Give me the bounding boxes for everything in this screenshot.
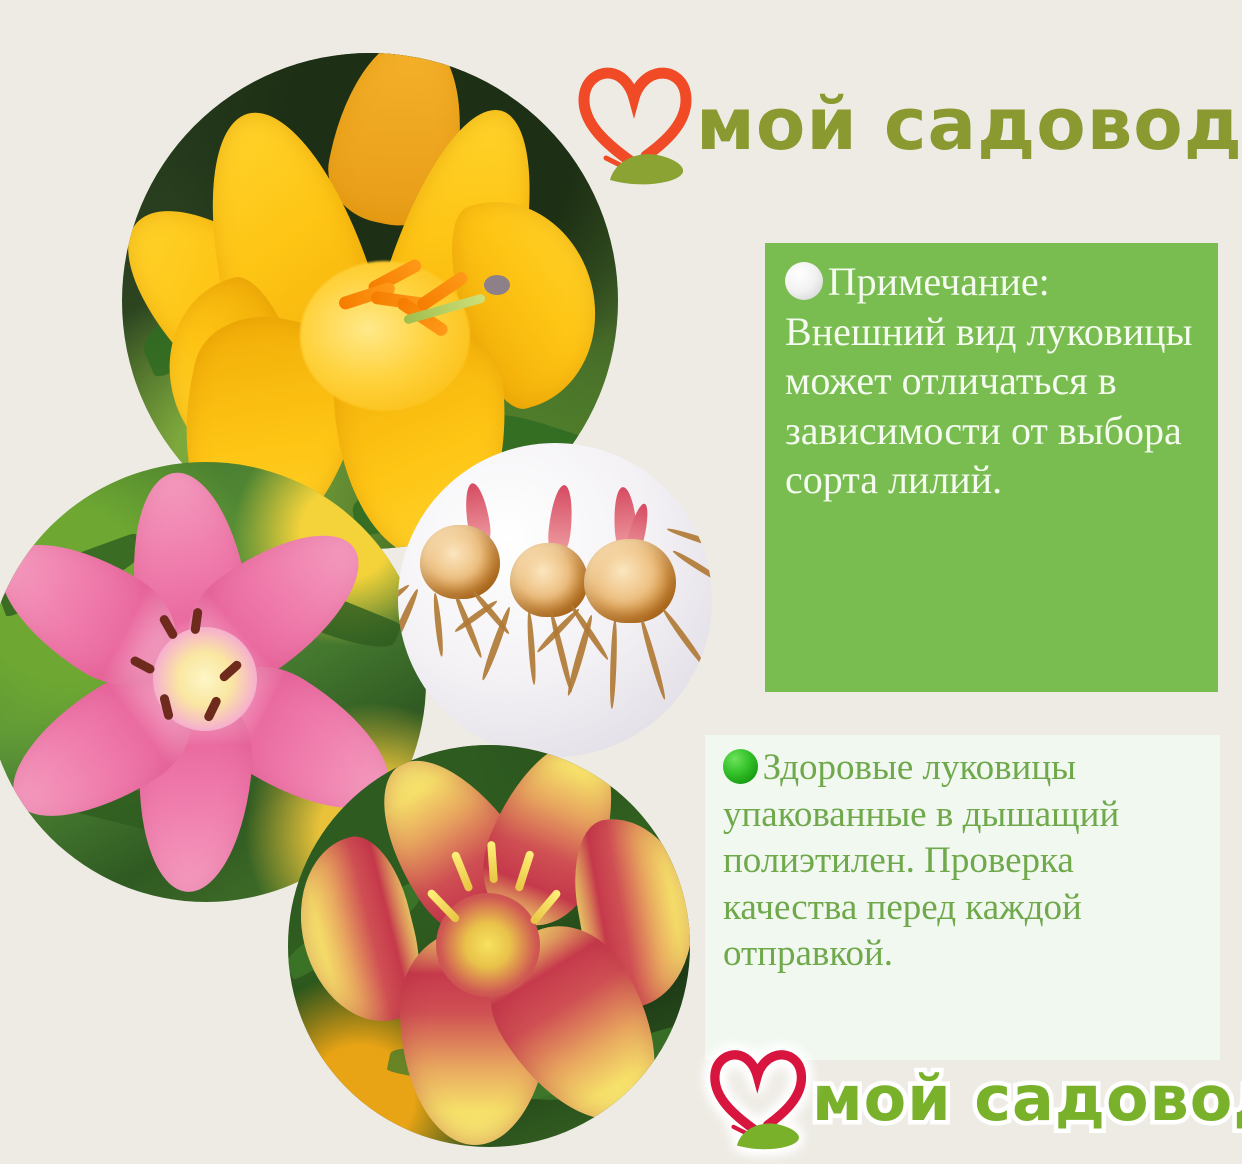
- heart-outline-icon: [715, 1055, 802, 1131]
- note-box-primary: Примечание: Внешний вид луковицы может о…: [765, 243, 1218, 692]
- brand-wordmark-top: мой садовод: [696, 82, 1242, 166]
- heart-outline-icon: [584, 73, 686, 163]
- bulb-body: [420, 525, 500, 599]
- note-primary-body: Внешний вид луковицы может отличаться в …: [785, 309, 1192, 503]
- photo-red-yellow-lily: [288, 745, 690, 1147]
- brand-logo-bottom[interactable]: мой садовод: [706, 1042, 1242, 1154]
- stigma-shape: [484, 275, 510, 295]
- brand-logo-top[interactable]: мой садовод: [576, 58, 1242, 190]
- bulb-body: [510, 543, 588, 617]
- heart-leaf-logo-icon: [706, 1042, 812, 1154]
- white-circle-icon: [785, 262, 823, 300]
- note-secondary-body: Здоровые луковицы упакованные в дышащий …: [723, 747, 1119, 974]
- note-box-secondary: Здоровые луковицы упакованные в дышащий …: [705, 735, 1220, 1060]
- brand-wordmark-bottom: мой садовод: [812, 1062, 1242, 1135]
- poster-canvas: мой садовод Примечание: Внешний вид луко…: [0, 0, 1242, 1164]
- photo-lily-bulbs: [398, 443, 712, 757]
- logo-mark-bottom: [706, 1042, 812, 1154]
- note-primary-heading: Примечание:: [828, 259, 1050, 304]
- heart-leaf-logo-icon: [576, 58, 696, 190]
- logo-mark-top: [576, 58, 696, 190]
- green-circle-icon: [723, 749, 758, 784]
